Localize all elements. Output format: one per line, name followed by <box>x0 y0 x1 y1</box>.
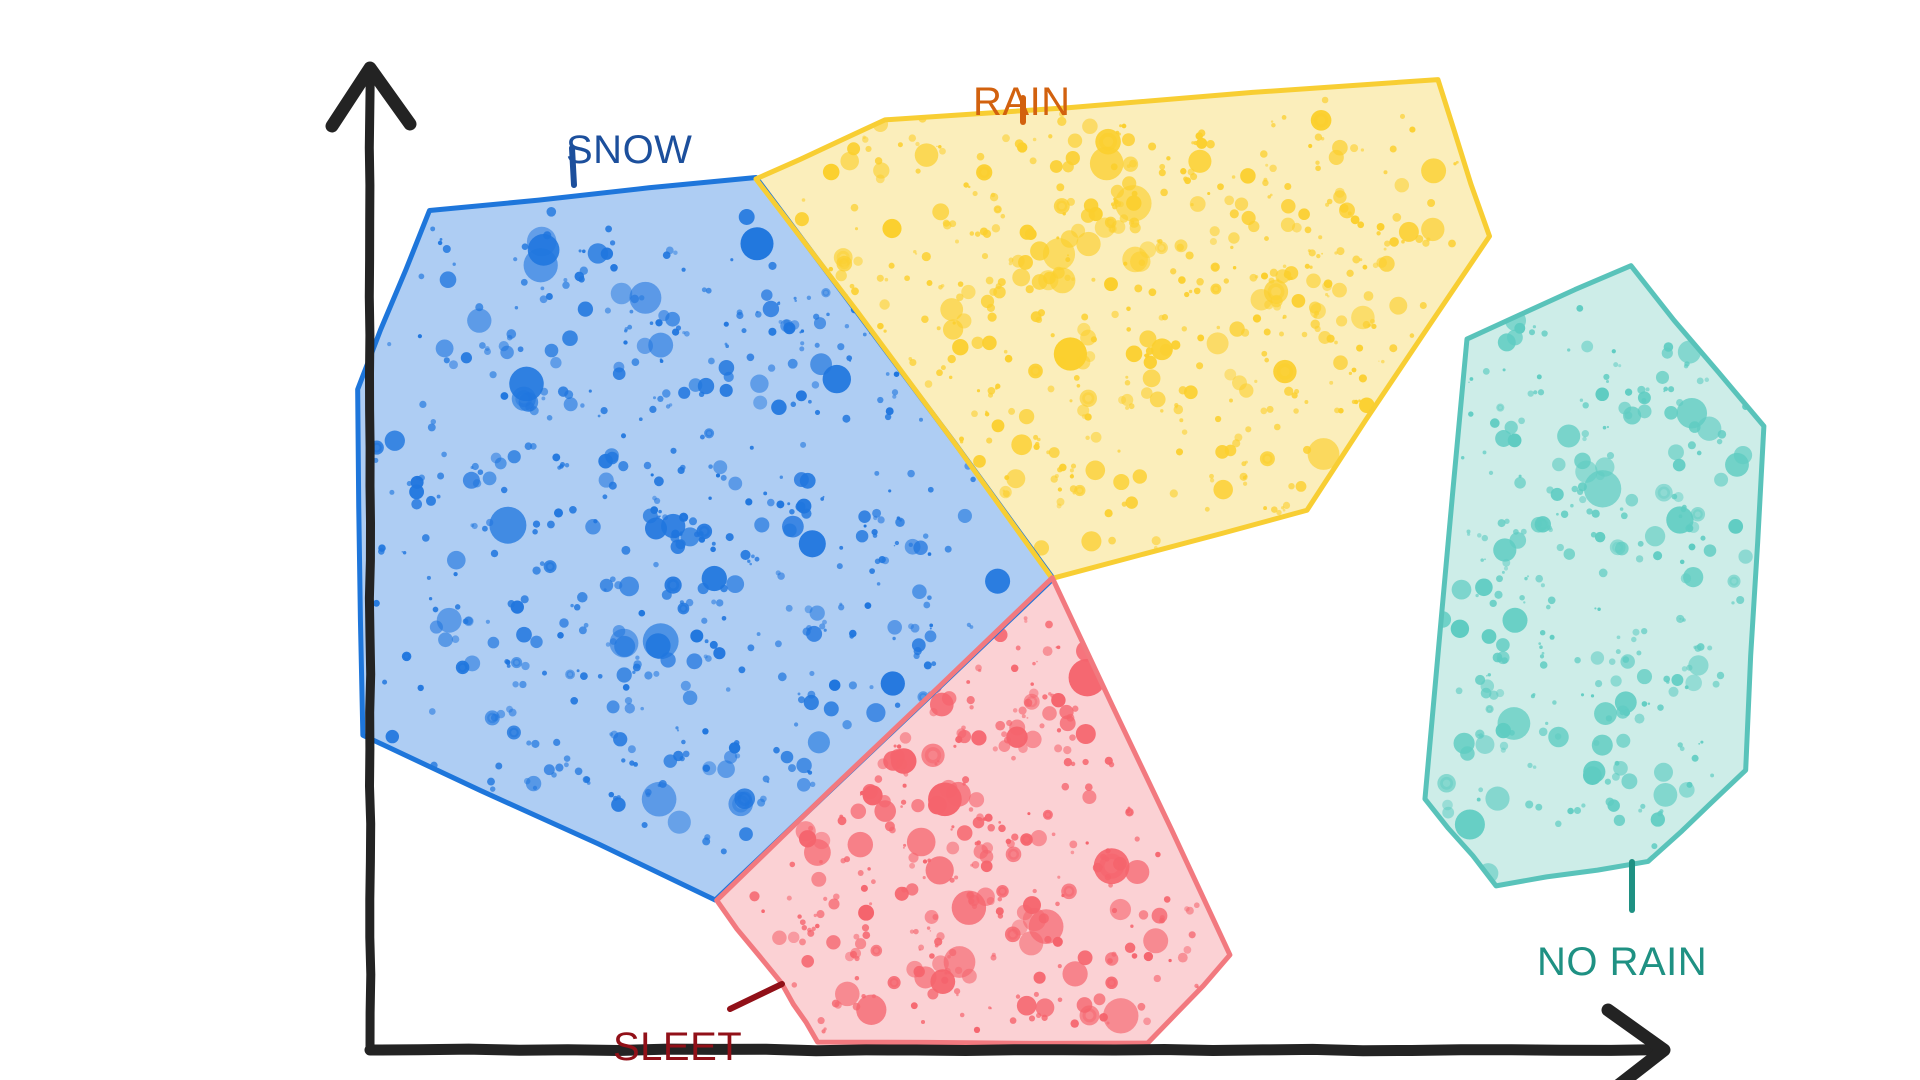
data-point <box>756 311 758 313</box>
data-point <box>866 703 885 722</box>
data-point <box>1144 354 1146 356</box>
data-point <box>1229 399 1233 403</box>
data-point <box>805 605 813 613</box>
data-point <box>1685 675 1702 692</box>
data-point <box>1206 140 1215 149</box>
data-point <box>931 661 936 666</box>
data-point <box>418 334 422 338</box>
data-point <box>960 1013 965 1018</box>
data-point <box>1456 161 1459 164</box>
data-point <box>783 523 797 537</box>
data-point <box>1574 807 1581 814</box>
data-point <box>490 786 495 791</box>
data-point <box>1241 329 1249 337</box>
data-point <box>1155 241 1168 254</box>
data-point <box>1228 232 1239 243</box>
data-point <box>1334 341 1338 345</box>
data-point <box>961 285 975 299</box>
data-point <box>504 659 509 664</box>
data-point <box>507 335 513 341</box>
data-point <box>1197 334 1204 341</box>
data-point <box>1091 336 1097 342</box>
data-point <box>998 821 1001 824</box>
data-point <box>704 654 708 658</box>
data-point <box>772 931 787 946</box>
data-point <box>950 828 952 830</box>
data-point <box>1497 651 1510 664</box>
data-point <box>690 630 703 643</box>
data-point <box>888 489 891 492</box>
data-point <box>1456 687 1463 694</box>
data-point <box>1294 389 1299 394</box>
data-point <box>1705 378 1709 382</box>
data-point <box>1006 469 1025 488</box>
data-point <box>871 945 883 957</box>
data-point <box>1106 1021 1109 1024</box>
data-point <box>970 477 975 482</box>
data-point <box>1062 961 1087 986</box>
data-point <box>1332 283 1347 298</box>
data-point <box>681 268 685 272</box>
data-point <box>864 524 867 527</box>
data-point <box>937 326 941 330</box>
data-point <box>858 905 874 921</box>
data-point <box>807 296 811 300</box>
data-point <box>1276 510 1281 515</box>
data-point <box>1540 654 1544 658</box>
data-point <box>1054 744 1062 752</box>
data-point <box>955 240 959 244</box>
data-point <box>1475 675 1485 685</box>
data-point <box>1612 773 1620 781</box>
data-point <box>1692 755 1699 762</box>
data-point <box>565 669 575 679</box>
data-point <box>614 581 622 589</box>
data-point <box>940 298 963 321</box>
data-point <box>605 225 612 232</box>
data-point <box>1073 491 1076 494</box>
data-point <box>708 358 715 365</box>
data-point <box>794 722 798 726</box>
data-point <box>682 331 685 334</box>
data-point <box>479 342 486 349</box>
data-point <box>619 576 639 596</box>
data-point <box>1538 389 1544 395</box>
data-point <box>1527 763 1532 768</box>
data-point <box>441 452 447 458</box>
data-point <box>873 533 878 538</box>
data-point <box>1274 424 1281 431</box>
data-point <box>550 357 561 368</box>
data-point <box>923 859 927 863</box>
data-point <box>564 755 571 762</box>
data-point <box>658 510 662 514</box>
data-point <box>1062 212 1065 215</box>
data-point <box>1642 701 1648 707</box>
data-point <box>786 605 793 612</box>
data-point <box>1389 237 1399 247</box>
data-point <box>1483 368 1490 375</box>
data-point <box>1666 680 1669 683</box>
data-point <box>676 325 681 330</box>
data-point <box>1532 693 1535 696</box>
data-point <box>1026 285 1034 293</box>
data-point <box>1654 763 1673 782</box>
data-point <box>807 770 810 773</box>
data-point <box>794 472 809 487</box>
data-point <box>1046 450 1050 454</box>
data-point <box>1682 666 1687 671</box>
data-point <box>837 563 843 569</box>
data-point <box>431 419 436 424</box>
data-point <box>822 496 824 498</box>
data-point <box>1631 637 1636 642</box>
data-point <box>1535 804 1542 811</box>
data-point <box>1196 278 1203 285</box>
data-point <box>807 928 812 933</box>
data-point <box>818 1017 825 1024</box>
data-point <box>1548 596 1556 604</box>
data-point <box>1592 510 1600 518</box>
data-point <box>611 283 633 305</box>
data-point <box>1251 289 1273 311</box>
data-point <box>886 372 890 376</box>
data-point <box>789 509 794 514</box>
data-point <box>467 308 491 332</box>
data-point <box>1545 722 1548 725</box>
data-point <box>1157 239 1160 242</box>
data-point <box>874 471 879 476</box>
data-point <box>892 389 898 395</box>
data-point <box>757 632 761 636</box>
data-point <box>1337 247 1345 255</box>
data-point <box>775 640 782 647</box>
data-point <box>749 563 752 566</box>
data-point <box>909 543 913 547</box>
data-point <box>958 509 972 523</box>
data-point <box>633 664 641 672</box>
data-point <box>483 472 497 486</box>
data-point <box>518 346 524 352</box>
data-point <box>1056 183 1064 191</box>
data-point <box>1514 323 1525 334</box>
data-point <box>724 372 734 382</box>
data-point <box>540 388 548 396</box>
data-point <box>547 521 555 529</box>
data-point <box>1616 649 1621 654</box>
data-point <box>1475 730 1484 739</box>
data-point <box>966 680 970 684</box>
data-point <box>875 559 881 565</box>
data-point <box>453 263 456 266</box>
data-point <box>533 520 540 527</box>
data-point <box>1704 544 1717 557</box>
data-point <box>1609 658 1616 665</box>
data-point <box>1122 124 1127 129</box>
data-point <box>1194 288 1201 295</box>
data-point <box>1664 406 1678 420</box>
data-point <box>609 482 617 490</box>
data-point <box>1352 368 1357 373</box>
data-point <box>763 301 779 317</box>
data-point <box>1184 906 1189 911</box>
data-point <box>1058 964 1062 968</box>
data-point <box>438 241 442 245</box>
data-point <box>1389 344 1397 352</box>
data-point <box>822 620 827 625</box>
data-point <box>1496 689 1504 697</box>
data-point <box>1043 238 1075 270</box>
data-point <box>574 604 581 611</box>
data-point <box>662 389 670 397</box>
data-point <box>1358 399 1361 402</box>
data-point <box>1552 458 1565 471</box>
data-point <box>1012 268 1030 286</box>
data-point <box>1519 475 1522 478</box>
data-point <box>1322 97 1329 104</box>
data-point <box>704 428 714 438</box>
data-point <box>862 931 870 939</box>
data-point <box>713 460 727 474</box>
data-point <box>995 387 998 390</box>
data-point <box>1564 548 1575 559</box>
data-point <box>1510 532 1527 549</box>
data-point <box>1081 314 1088 321</box>
data-point <box>969 625 973 629</box>
data-point <box>969 792 984 807</box>
data-point <box>862 924 869 931</box>
data-point <box>1264 236 1269 241</box>
data-point <box>491 550 498 557</box>
data-point <box>1270 194 1273 197</box>
data-point <box>1567 348 1570 351</box>
data-point <box>1682 505 1687 510</box>
data-point <box>808 826 813 831</box>
data-point <box>1607 452 1614 459</box>
data-point <box>1595 532 1606 543</box>
data-point <box>1207 332 1229 354</box>
data-point <box>921 1020 925 1024</box>
data-point <box>1077 384 1081 388</box>
data-point <box>1645 526 1665 546</box>
data-point <box>1595 680 1602 687</box>
data-point <box>1053 937 1063 947</box>
data-point <box>1111 311 1118 318</box>
data-point <box>800 341 804 345</box>
data-point <box>1535 575 1543 583</box>
data-point <box>708 496 711 499</box>
data-point <box>800 442 806 448</box>
data-point <box>1390 146 1397 153</box>
data-point <box>1056 646 1058 648</box>
data-point <box>628 745 636 753</box>
data-point <box>673 250 677 254</box>
data-point <box>650 321 654 325</box>
data-point <box>604 588 607 591</box>
data-point <box>894 371 900 377</box>
data-point <box>662 590 672 600</box>
data-point <box>894 744 897 747</box>
data-point <box>1682 618 1686 622</box>
data-point <box>387 342 391 346</box>
data-point <box>972 337 984 349</box>
data-point <box>1282 115 1287 120</box>
data-point <box>1470 377 1474 381</box>
data-point <box>1250 274 1258 282</box>
data-point <box>922 252 931 261</box>
data-point <box>639 295 644 300</box>
data-point <box>643 623 679 659</box>
data-point <box>1697 417 1721 441</box>
data-point <box>546 207 556 217</box>
data-point <box>1308 249 1311 252</box>
data-point <box>1324 279 1333 288</box>
data-point <box>1085 436 1089 440</box>
data-point <box>1276 279 1279 282</box>
data-point <box>845 324 849 328</box>
data-point <box>470 523 474 527</box>
data-point <box>753 396 767 410</box>
data-point <box>794 299 797 302</box>
data-point <box>1210 238 1217 245</box>
data-point <box>1527 575 1529 577</box>
data-point <box>798 692 801 695</box>
data-point <box>1302 332 1308 338</box>
data-point <box>988 313 997 322</box>
data-point <box>1508 434 1522 448</box>
data-point <box>877 516 884 523</box>
data-point <box>1048 385 1055 392</box>
data-point <box>1034 972 1046 984</box>
data-point <box>1027 812 1030 815</box>
leader-line-sleet <box>730 984 782 1009</box>
data-point <box>962 782 965 785</box>
data-point <box>795 212 809 226</box>
data-point <box>532 529 538 535</box>
data-point <box>1031 311 1042 322</box>
data-point <box>1024 699 1032 707</box>
data-point <box>625 703 635 713</box>
data-point <box>1105 509 1113 517</box>
data-point <box>1082 414 1087 419</box>
data-point <box>995 721 1005 731</box>
data-point <box>853 256 862 265</box>
data-point <box>433 607 439 613</box>
data-point <box>1490 418 1500 428</box>
data-point <box>1049 447 1060 458</box>
data-point <box>848 832 873 857</box>
data-point <box>801 508 811 518</box>
data-point <box>650 506 658 514</box>
data-point <box>1159 315 1165 321</box>
data-point <box>799 938 806 945</box>
data-point <box>1122 501 1127 506</box>
data-point <box>1017 996 1037 1016</box>
data-point <box>563 278 567 282</box>
data-point <box>1542 652 1545 655</box>
data-point <box>609 792 615 798</box>
data-point <box>1063 746 1071 754</box>
data-point <box>1738 549 1752 563</box>
data-point <box>760 796 767 803</box>
data-point <box>1663 390 1665 392</box>
data-point <box>677 729 679 731</box>
data-point <box>1561 510 1568 517</box>
data-point <box>899 519 902 522</box>
data-point <box>1283 264 1287 268</box>
data-point <box>1025 228 1037 240</box>
data-point <box>851 804 867 820</box>
data-point <box>1052 832 1056 836</box>
data-point <box>824 629 827 632</box>
data-point <box>850 284 855 289</box>
data-point <box>649 406 656 413</box>
data-point <box>863 333 867 337</box>
data-point <box>1240 473 1248 481</box>
data-point <box>1044 936 1051 943</box>
data-point <box>1359 374 1367 382</box>
data-point <box>416 476 420 480</box>
data-point <box>1567 808 1574 815</box>
cluster-regions <box>358 80 1764 1044</box>
data-point <box>705 639 709 643</box>
data-point <box>613 362 624 373</box>
data-point <box>564 397 578 411</box>
data-point <box>985 814 993 822</box>
data-point <box>912 584 927 599</box>
data-point <box>1579 496 1586 503</box>
data-point <box>1356 345 1363 352</box>
data-point <box>877 275 884 282</box>
data-point <box>1168 959 1171 962</box>
data-point <box>569 506 577 514</box>
data-point <box>485 346 490 351</box>
data-point <box>482 526 488 532</box>
data-point <box>1603 426 1607 430</box>
data-point <box>974 1027 980 1033</box>
data-point <box>1209 474 1214 479</box>
data-point <box>1045 621 1053 629</box>
data-point <box>644 671 652 679</box>
data-point <box>1043 646 1053 656</box>
data-point <box>621 546 630 555</box>
data-point <box>823 164 840 181</box>
data-point <box>1576 305 1583 312</box>
data-point <box>1217 326 1221 330</box>
data-point <box>1731 601 1734 604</box>
data-point <box>792 982 798 988</box>
data-point <box>1110 899 1131 920</box>
data-point <box>506 706 513 713</box>
data-point <box>954 875 958 879</box>
data-point <box>1094 848 1130 884</box>
data-point <box>1371 324 1376 329</box>
data-point <box>1606 380 1609 383</box>
data-point <box>909 134 916 141</box>
data-point <box>832 1000 840 1008</box>
data-point <box>928 487 934 493</box>
data-point <box>897 516 901 520</box>
data-point <box>486 620 490 624</box>
data-point <box>1581 693 1584 696</box>
data-point <box>1635 714 1645 724</box>
data-point <box>977 153 985 161</box>
data-point <box>973 191 978 196</box>
data-point <box>871 879 876 884</box>
data-point <box>551 772 557 778</box>
data-point <box>1679 514 1683 518</box>
data-point <box>1536 520 1542 526</box>
